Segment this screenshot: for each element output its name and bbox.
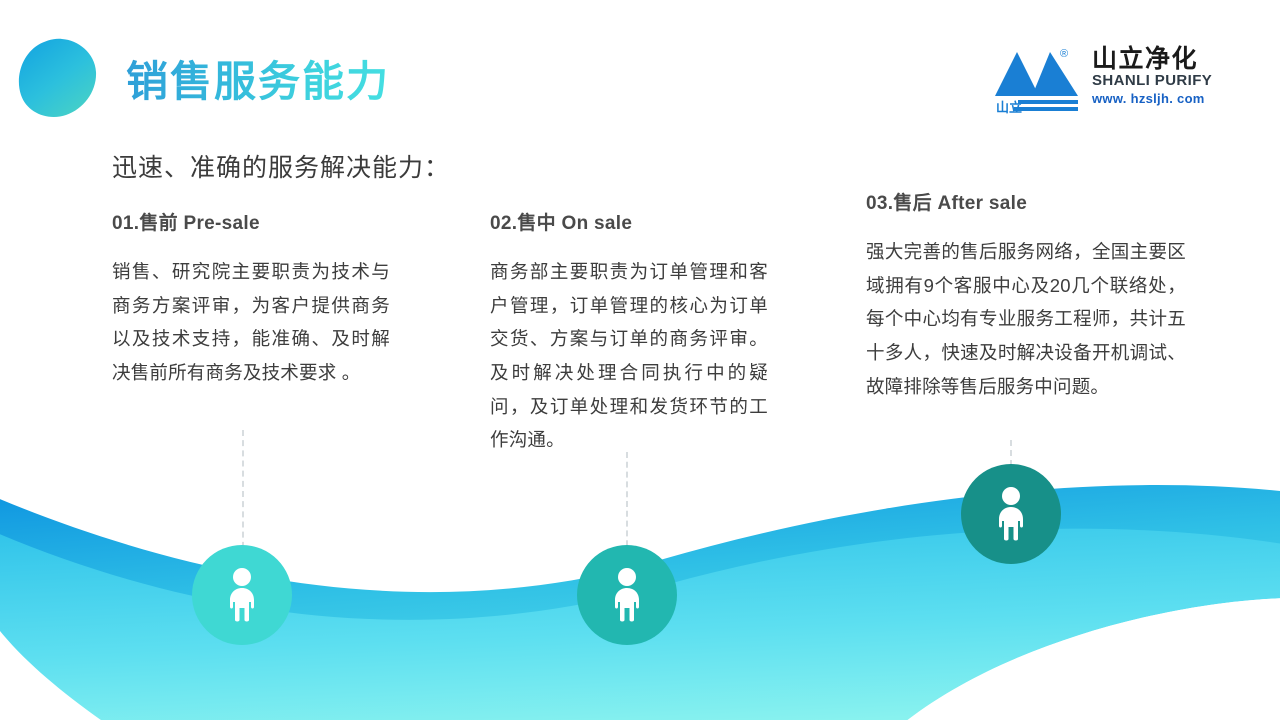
person-icon [608, 566, 646, 624]
column-on-sale: 02.售中 On sale 商务部主要职责为订单管理和客户管理，订单管理的核心为… [490, 208, 768, 457]
svg-text:®: ® [1060, 48, 1068, 60]
section-subtitle: 迅速、准确的服务解决能力： [112, 148, 450, 184]
column-body-pre-sale: 销售、研究院主要职责为技术与商务方案评审，为客户提供商务以及技术支持，能准确、及… [112, 255, 390, 390]
logo-company-cn: 山立净化 [1092, 46, 1224, 72]
connector-line-1 [242, 430, 244, 558]
logo-website[interactable]: www. hzsljh. com [1092, 91, 1224, 108]
blob-shape-icon [16, 36, 100, 120]
wave-corner-left [0, 618, 130, 720]
person-icon [992, 485, 1030, 543]
wave-corner-right [905, 598, 1280, 720]
logo-company-en: SHANLI PURIFY [1092, 72, 1224, 91]
column-heading-pre-sale: 01.售前 Pre-sale [112, 208, 390, 235]
badge-pre-sale[interactable]: person-icon [192, 545, 292, 645]
column-body-after-sale: 强大完善的售后服务网络，全国主要区域拥有9个客服中心及20几个联络处，每个中心均… [866, 235, 1186, 403]
logo-text-block: 山立净化 SHANLI PURIFY www. hzsljh. com [1092, 46, 1224, 108]
badge-on-sale[interactable]: person-icon [577, 545, 677, 645]
slide-header: 销售服务能力 山立 ® 山立净化 SHANLI PURIFY www. hzsl… [0, 0, 1280, 150]
badge-after-sale[interactable]: person-icon [961, 464, 1061, 564]
mountain-logo-icon: 山立 ® [992, 44, 1084, 116]
person-icon [223, 566, 261, 624]
column-pre-sale: 01.售前 Pre-sale 销售、研究院主要职责为技术与商务方案评审，为客户提… [112, 208, 390, 390]
column-body-on-sale: 商务部主要职责为订单管理和客户管理，订单管理的核心为订单交货、方案与订单的商务评… [490, 255, 768, 457]
page-title: 销售服务能力 [126, 56, 390, 109]
column-heading-after-sale: 03.售后 After sale [866, 188, 1186, 215]
wave-corner-right-fill [905, 598, 1280, 720]
svg-text:山立: 山立 [996, 100, 1022, 115]
slide-root: 销售服务能力 山立 ® 山立净化 SHANLI PURIFY www. hzsl… [0, 0, 1280, 720]
column-heading-on-sale: 02.售中 On sale [490, 208, 768, 235]
connector-line-2 [626, 452, 628, 556]
company-logo: 山立 ® 山立净化 SHANLI PURIFY www. hzsljh. com [992, 44, 1222, 122]
column-after-sale: 03.售后 After sale 强大完善的售后服务网络，全国主要区域拥有9个客… [866, 188, 1186, 403]
